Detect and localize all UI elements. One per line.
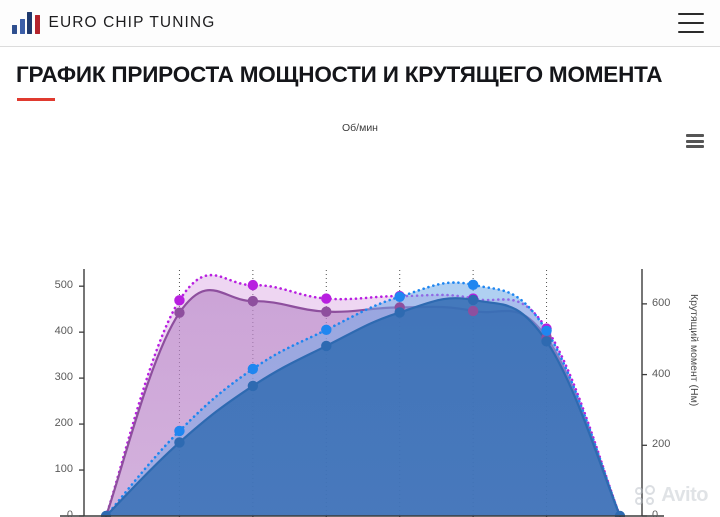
y-axis-left-tick-label: 200	[39, 417, 73, 429]
brand-name: EURO CHIP TUNING	[49, 14, 216, 32]
y-axis-right-tick-label: 200	[652, 438, 692, 450]
chart-series-group	[60, 269, 664, 517]
page-root: EURO CHIP TUNING ГРАФИК ПРИРОСТА МОЩНОСТ…	[0, 0, 720, 517]
y-axis-left-tick-label: 400	[39, 325, 73, 337]
data-point-marker	[248, 280, 258, 290]
y-axis-right-tick-label: 0	[652, 509, 692, 517]
data-point-marker	[321, 325, 331, 335]
chart-svg	[0, 122, 720, 517]
title-underline-rule	[17, 98, 55, 101]
title-section: ГРАФИК ПРИРОСТА МОЩНОСТИ И КРУТЯЩЕГО МОМ…	[0, 47, 720, 101]
y-axis-left-tick-label: 100	[39, 463, 73, 475]
data-point-marker	[248, 364, 258, 374]
dyno-chart: Мощность (лс) Крутящий момент (Нм) Об/ми…	[0, 122, 720, 462]
data-point-marker	[174, 295, 184, 305]
data-point-marker	[321, 341, 331, 351]
data-point-marker	[541, 336, 551, 346]
data-point-marker	[541, 326, 551, 336]
data-point-marker	[174, 437, 184, 447]
data-point-marker	[321, 293, 331, 303]
bar-chart-logo-icon	[12, 12, 40, 34]
data-point-marker	[321, 306, 331, 316]
data-point-marker	[395, 307, 405, 317]
data-point-marker	[174, 308, 184, 318]
data-point-marker	[468, 295, 478, 305]
avito-logo-icon	[635, 485, 657, 507]
avito-watermark: Avito	[635, 484, 708, 507]
y-axis-right-tick-label: 400	[652, 368, 692, 380]
page-title: ГРАФИК ПРИРОСТА МОЩНОСТИ И КРУТЯЩЕГО МОМ…	[0, 47, 720, 88]
y-axis-right-tick-label: 600	[652, 297, 692, 309]
brand-logo[interactable]: EURO CHIP TUNING	[12, 12, 215, 34]
data-point-marker	[248, 381, 258, 391]
data-point-marker	[468, 280, 478, 290]
hamburger-menu-icon[interactable]	[678, 13, 704, 33]
avito-watermark-text: Avito	[661, 484, 708, 507]
data-point-marker	[174, 426, 184, 436]
site-header: EURO CHIP TUNING	[0, 0, 720, 47]
y-axis-left-tick-label: 0	[39, 509, 73, 517]
data-point-marker	[248, 296, 258, 306]
y-axis-left-tick-label: 300	[39, 371, 73, 383]
y-axis-right-title: Крутящий момент (Нм)	[688, 294, 700, 406]
data-point-marker	[468, 306, 478, 316]
y-axis-left-tick-label: 500	[39, 279, 73, 291]
chart-plot-area: Мощность (лс) Крутящий момент (Нм) Об/ми…	[0, 122, 720, 422]
data-point-marker	[395, 292, 405, 302]
